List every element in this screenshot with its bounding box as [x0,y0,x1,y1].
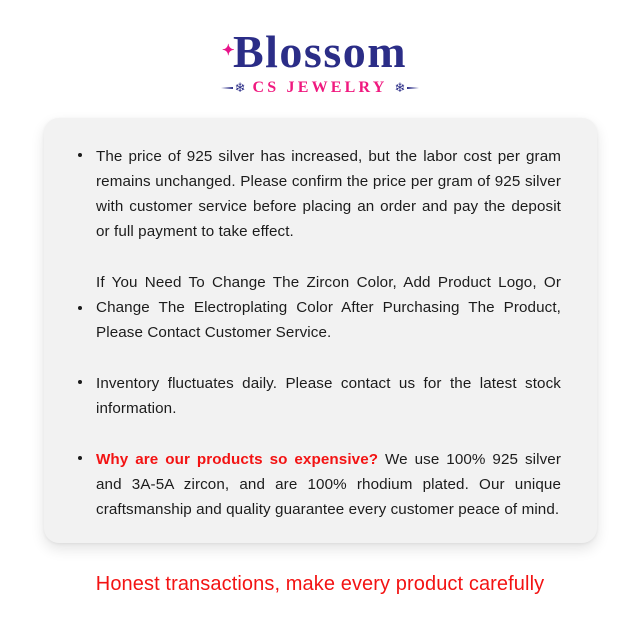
snowflake-right-icon: ❄ [395,81,406,94]
list-item-highlight: Why are our products so expensive? [96,451,378,468]
list-item: Why are our products so expensive? We us… [74,447,561,522]
bullet-dot-icon [78,456,82,460]
list-item-text: Inventory fluctuates daily. Please conta… [96,371,561,421]
footer-slogan: Honest transactions, make every product … [0,570,640,598]
brand-tagline-row: ❄ CS JEWELRY ❄ [0,79,640,97]
list-item: The price of 925 silver has increased, b… [74,144,561,244]
list-item-text: The price of 925 silver has increased, b… [96,144,561,244]
list-item: If You Need To Change The Zircon Color, … [74,270,561,345]
bullet-dot-icon [78,153,82,157]
brand-tagline-text: CS JEWELRY [252,79,387,97]
brand-logo: ✦ Blossom ❄ CS JEWELRY ❄ [0,28,640,97]
list-item-text: Why are our products so expensive? We us… [96,447,561,522]
ornament-right: ❄ [395,81,420,94]
notice-list: The price of 925 silver has increased, b… [74,144,561,522]
snowflake-left-icon: ❄ [235,81,246,94]
ornament-dash-left-icon [221,87,233,89]
brand-wordmark: ✦ Blossom [233,28,407,76]
ornament-left: ❄ [221,81,246,94]
bullet-dot-icon [78,380,82,384]
list-item-text: If You Need To Change The Zircon Color, … [96,270,561,345]
poster-page: ✦ Blossom ❄ CS JEWELRY ❄ The price of 92… [0,0,640,640]
bullet-dot-icon [78,306,82,310]
sparkle-icon: ✦ [222,44,236,58]
notice-card: The price of 925 silver has increased, b… [44,118,597,543]
ornament-dash-right-icon [407,87,419,89]
list-item: Inventory fluctuates daily. Please conta… [74,371,561,421]
brand-wordmark-text: Blossom [233,26,407,77]
